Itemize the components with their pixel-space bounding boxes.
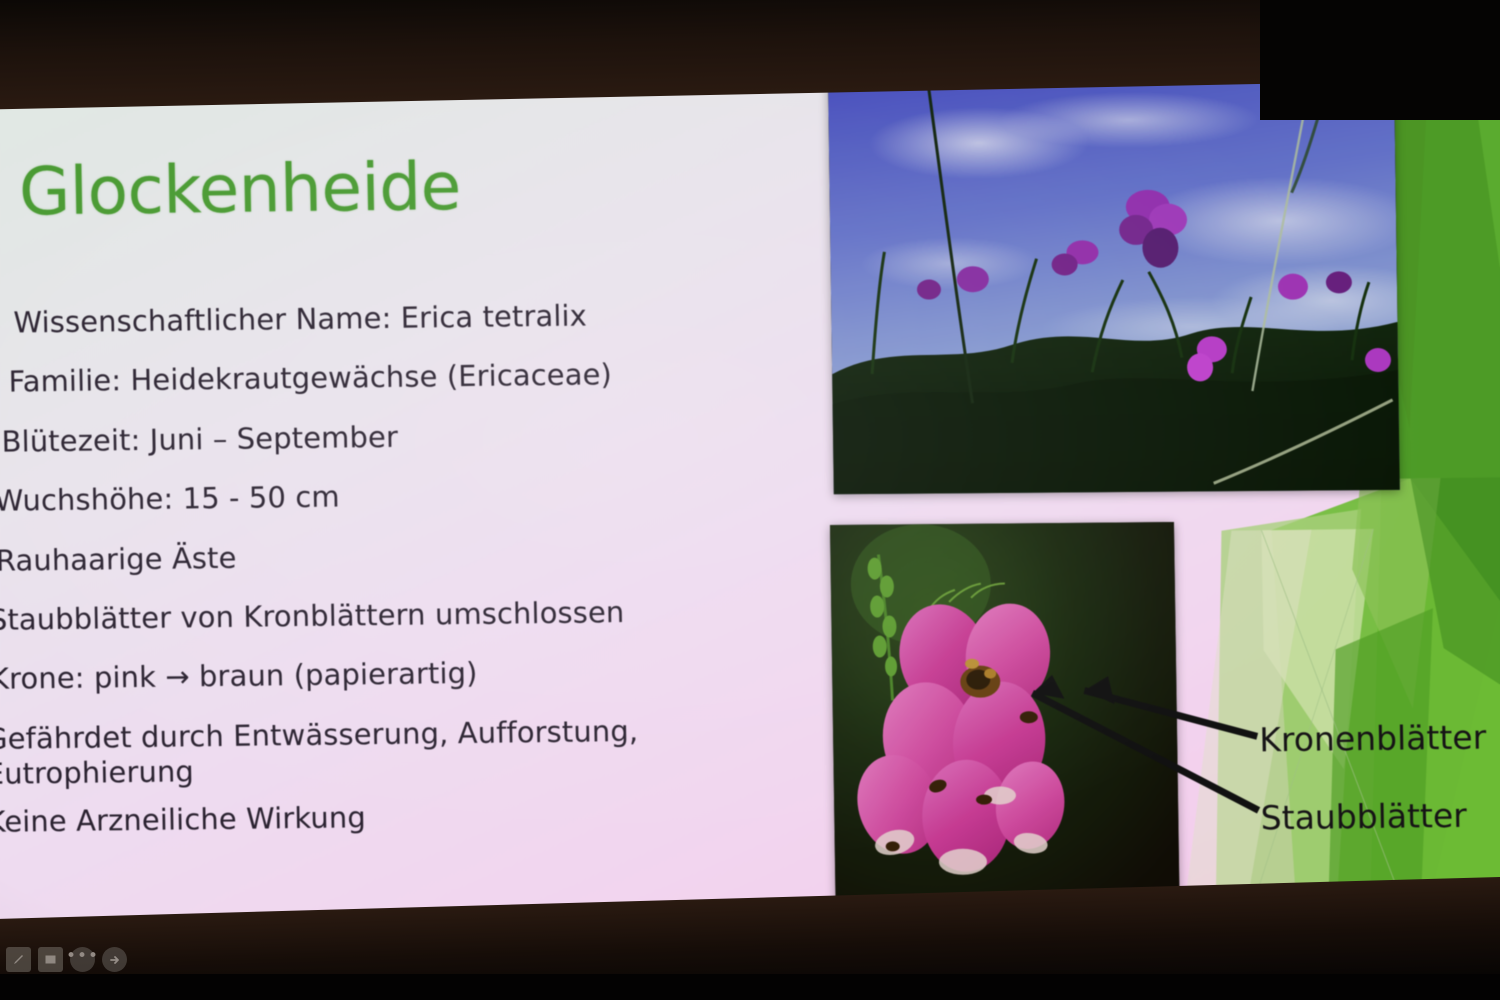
bullet-text: Staubblätter von Kronblättern umschlosse…: [0, 593, 777, 638]
room-dark-corner: [1260, 0, 1500, 120]
bullet-text: Keine Arzneiliche Wirkung: [0, 796, 781, 841]
bullet-item: Familie: Heidekrautgewächse (Ericaceae): [0, 356, 773, 412]
bullet-item: Wissenschaftlicher Name: Erica tetralix: [0, 296, 772, 352]
annotation-label-kronenblaetter: Kronenblätter: [1259, 718, 1487, 760]
annotation-label-staubblaetter: Staubblätter: [1260, 796, 1467, 838]
bullet-text: Wissenschaftlicher Name: Erica tetralix: [11, 296, 772, 341]
slide-title: Glockenheide: [18, 152, 461, 227]
bullet-item: Krone: pink → braun (papierartig): [0, 652, 778, 708]
presenter-controls[interactable]: •••: [6, 947, 127, 972]
presentation-slide: Glockenheide Wissenschaftlicher Name: Er…: [0, 7, 1500, 964]
slides-icon[interactable]: [38, 947, 63, 972]
bullet-text: Rauhaarige Äste: [0, 534, 776, 579]
bullet-item: Gefährdet durch Entwässerung, Aufforstun…: [0, 712, 780, 793]
bullet-item: Staubblätter von Kronblättern umschlosse…: [0, 593, 777, 649]
next-slide-icon[interactable]: [102, 947, 127, 972]
bullet-item: Keine Arzneiliche Wirkung: [0, 796, 781, 852]
bullet-text: Krone: pink → braun (papierartig): [0, 652, 778, 697]
bullet-item: Blütezeit: Juni – September: [0, 415, 774, 471]
bullet-text: Wuchshöhe: 15 - 50 cm: [0, 474, 775, 519]
bullet-list: Wissenschaftlicher Name: Erica tetralix …: [0, 296, 781, 864]
bullet-item: Wuchshöhe: 15 - 50 cm: [0, 474, 775, 530]
pen-icon[interactable]: [6, 947, 31, 972]
heather-field-image: [828, 70, 1400, 494]
heather-flower-closeup-image: [830, 522, 1180, 905]
bullet-triangle-icon: [0, 306, 12, 353]
more-options-icon[interactable]: •••: [70, 947, 95, 972]
bullet-text: Gefährdet durch Entwässerung, Aufforstun…: [0, 712, 780, 792]
bullet-item: Rauhaarige Äste: [0, 534, 776, 590]
projector-screen: Glockenheide Wissenschaftlicher Name: Er…: [0, 0, 1500, 1000]
bullet-text: Blütezeit: Juni – September: [0, 415, 774, 460]
bullet-text: Familie: Heidekrautgewächse (Ericaceae): [6, 356, 773, 401]
screen-bottom-edge: [0, 974, 1500, 1000]
